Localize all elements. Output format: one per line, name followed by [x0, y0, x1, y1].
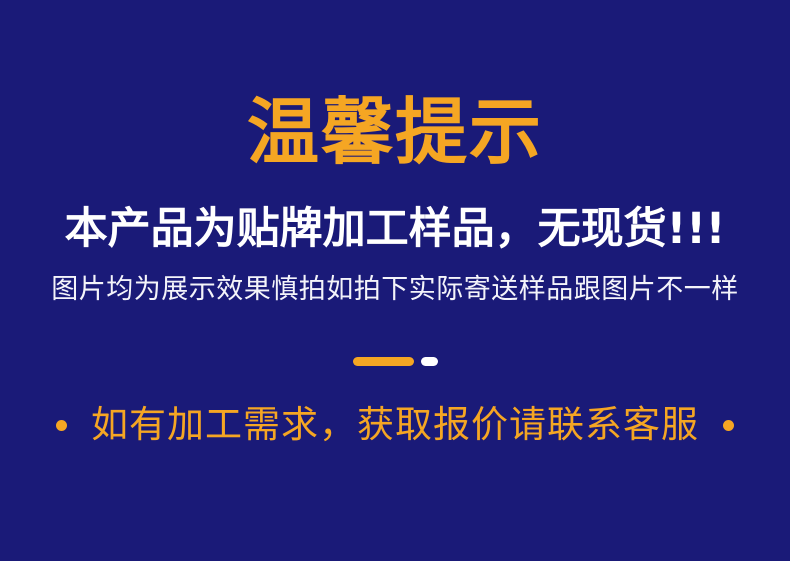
banner-headline-block: 本产品为贴牌加工样品，无现货!!! [0, 205, 790, 253]
contact-support-text: 如有加工需求，获取报价请联系客服 [91, 404, 699, 447]
decorative-divider [0, 354, 790, 368]
banner-subline-block: 图片均为展示效果慎拍如拍下实际寄送样品跟图片不一样 [0, 274, 790, 306]
notice-banner: 温馨提示 本产品为贴牌加工样品，无现货!!! 图片均为展示效果慎拍如拍下实际寄送… [0, 0, 790, 561]
banner-footer-block: 如有加工需求，获取报价请联系客服 [0, 402, 790, 448]
bullet-dot-right-icon [723, 420, 734, 431]
banner-title-block: 温馨提示 [0, 96, 790, 168]
subline-text: 图片均为展示效果慎拍如拍下实际寄送样品跟图片不一样 [51, 274, 739, 306]
divider-bar-short-icon [421, 357, 438, 366]
divider-bar-long-icon [353, 357, 414, 366]
bullet-dot-left-icon [56, 420, 67, 431]
headline-text: 本产品为贴牌加工样品，无现货!!! [65, 205, 726, 253]
page-title: 温馨提示 [247, 96, 543, 168]
